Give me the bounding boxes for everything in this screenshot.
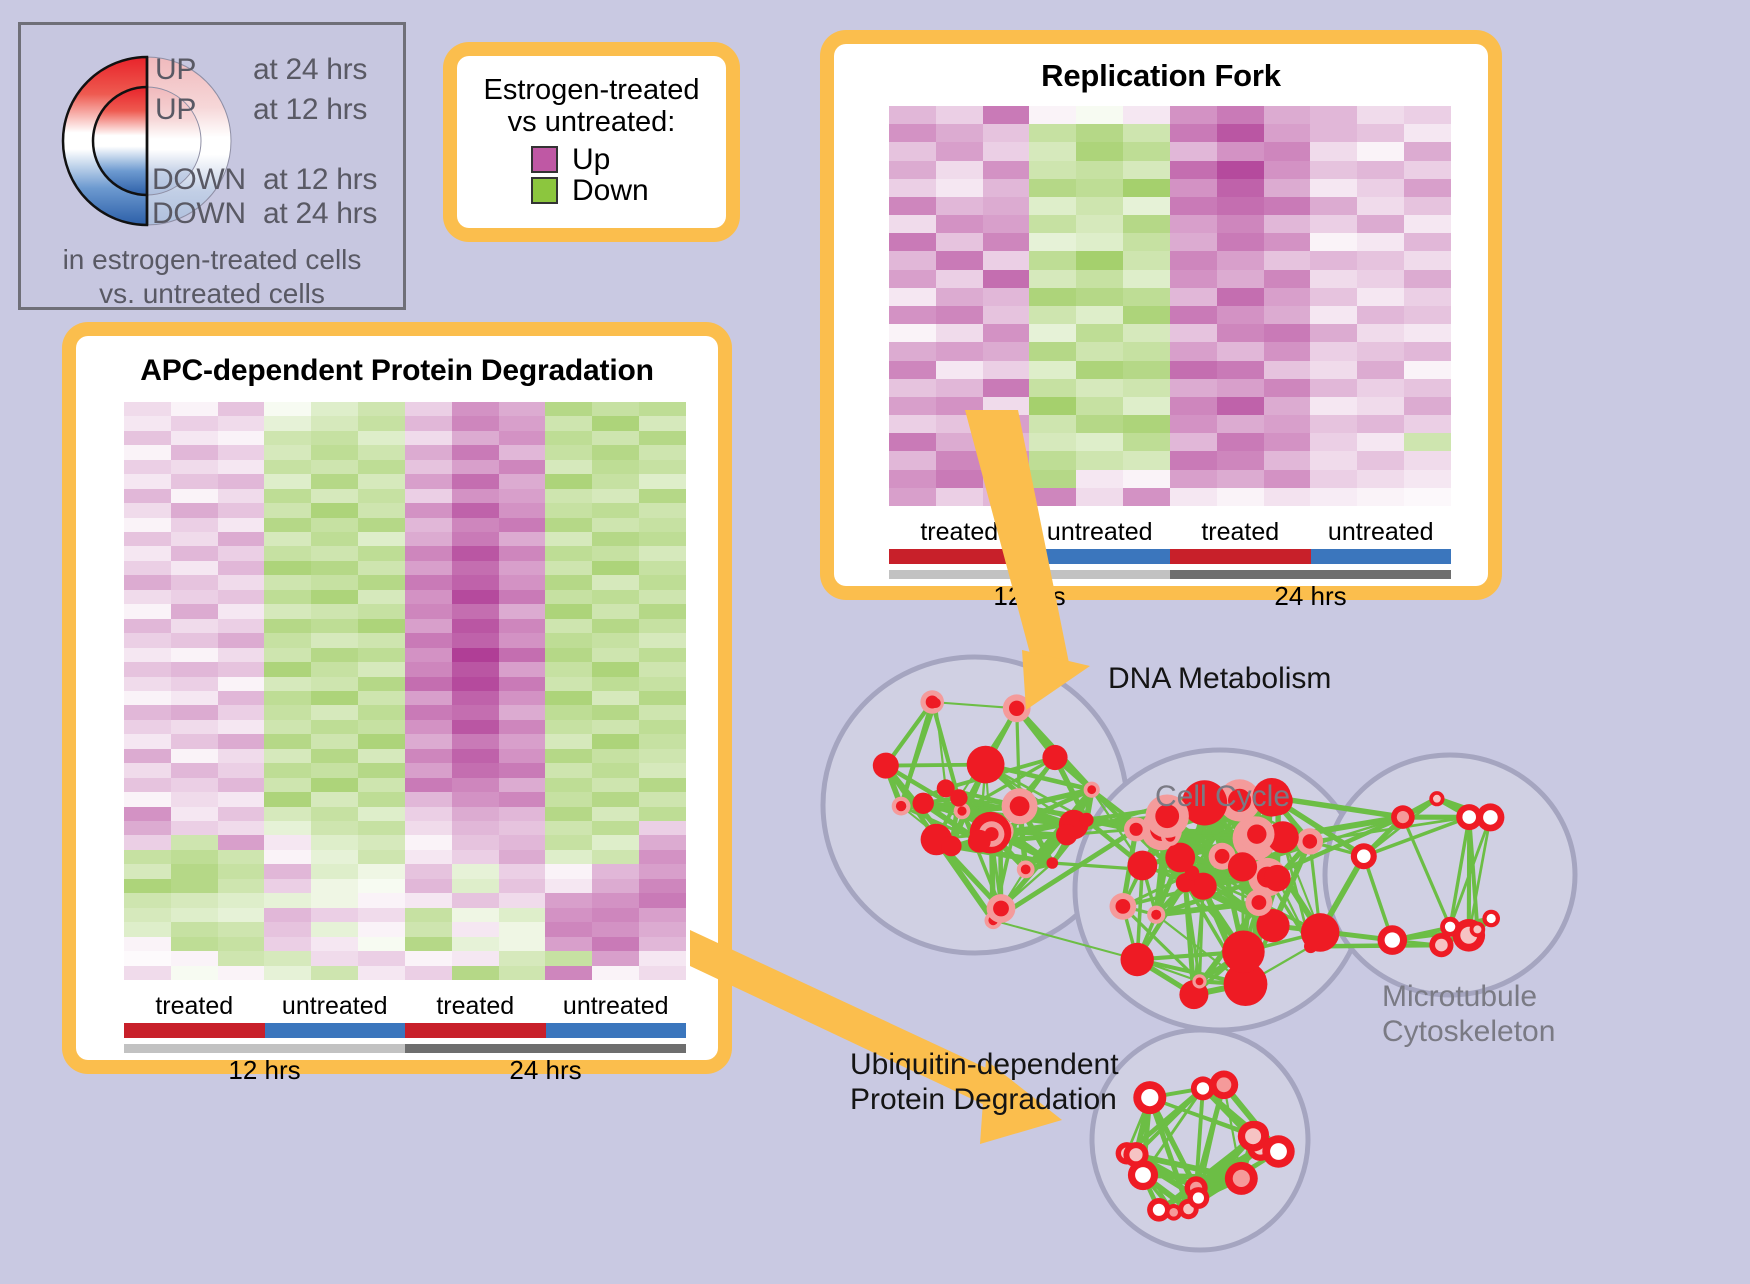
legend-title: Estrogen-treated vs untreated: bbox=[457, 74, 726, 139]
up-swatch-icon bbox=[531, 146, 558, 173]
microtubule-line2: Cytoskeleton bbox=[1382, 1015, 1555, 1050]
legend-label-down: Down bbox=[572, 176, 649, 206]
apc-time-24: 24 hrs bbox=[405, 1055, 686, 1086]
apc-degradation-panel: APC-dependent Protein Degradation treate… bbox=[62, 322, 732, 1074]
wheel-footnote-line1: in estrogen-treated cells bbox=[21, 243, 403, 277]
cluster-label-dna-metabolism: DNA Metabolism bbox=[1108, 662, 1331, 697]
microtubule-line1: Microtubule bbox=[1382, 980, 1555, 1015]
wheel-label-up-12: UP bbox=[155, 93, 196, 127]
legend-item-up: Up bbox=[531, 145, 726, 175]
apc-group-2: treated bbox=[405, 992, 546, 1021]
cluster-label-microtubule-cytoskeleton: Microtubule Cytoskeleton bbox=[1382, 980, 1555, 1049]
apc-time-names: 12 hrs 24 hrs bbox=[124, 1055, 686, 1086]
apc-time-12: 12 hrs bbox=[124, 1055, 405, 1086]
apc-heatmap bbox=[124, 402, 686, 980]
wheel-label-up-24: UP bbox=[155, 53, 196, 87]
apc-sample-strip: treated untreated treated untreated 12 h… bbox=[124, 992, 686, 1086]
apc-treatment-bar bbox=[124, 1023, 686, 1038]
colour-wheel-legend: UP at 24 hrs UP at 12 hrs DOWN at 12 hrs… bbox=[18, 22, 406, 310]
rf-group-3: untreated bbox=[1311, 518, 1452, 547]
legend-title-line2: vs untreated: bbox=[457, 106, 726, 138]
updown-legend-panel: Estrogen-treated vs untreated: Up Down bbox=[443, 42, 740, 242]
wheel-time-down-12: at 12 hrs bbox=[263, 163, 377, 197]
replication-fork-title: Replication Fork bbox=[834, 44, 1488, 94]
wheel-label-down-12: DOWN bbox=[152, 163, 246, 197]
legend-item-down: Down bbox=[531, 176, 726, 206]
apc-sample-names: treated untreated treated untreated bbox=[124, 992, 686, 1021]
gene-network-diagram: DNA Metabolism Cell Cycle Microtubule Cy… bbox=[790, 600, 1750, 1279]
apc-time-bar bbox=[124, 1044, 686, 1053]
rf-group-2: treated bbox=[1170, 518, 1311, 547]
wheel-footnote-line2: vs. untreated cells bbox=[21, 277, 403, 311]
wheel-time-up-12: at 12 hrs bbox=[253, 93, 367, 127]
legend-label-up: Up bbox=[572, 145, 610, 175]
down-swatch-icon bbox=[531, 177, 558, 204]
apc-group-3: untreated bbox=[546, 992, 687, 1021]
wheel-label-down-24: DOWN bbox=[152, 197, 246, 231]
wheel-time-down-24: at 24 hrs bbox=[263, 197, 377, 231]
wheel-legend-footnote: in estrogen-treated cells vs. untreated … bbox=[21, 243, 403, 311]
ubiquitin-line2: Protein Degradation bbox=[850, 1083, 1119, 1118]
apc-title: APC-dependent Protein Degradation bbox=[76, 336, 718, 388]
cluster-label-ubiquitin-degradation: Ubiquitin-dependent Protein Degradation bbox=[850, 1048, 1119, 1117]
cluster-label-cell-cycle: Cell Cycle bbox=[1155, 780, 1290, 815]
ubiquitin-line1: Ubiquitin-dependent bbox=[850, 1048, 1119, 1083]
apc-group-1: untreated bbox=[265, 992, 406, 1021]
apc-group-0: treated bbox=[124, 992, 265, 1021]
legend-title-line1: Estrogen-treated bbox=[457, 74, 726, 106]
wheel-time-up-24: at 24 hrs bbox=[253, 53, 367, 87]
